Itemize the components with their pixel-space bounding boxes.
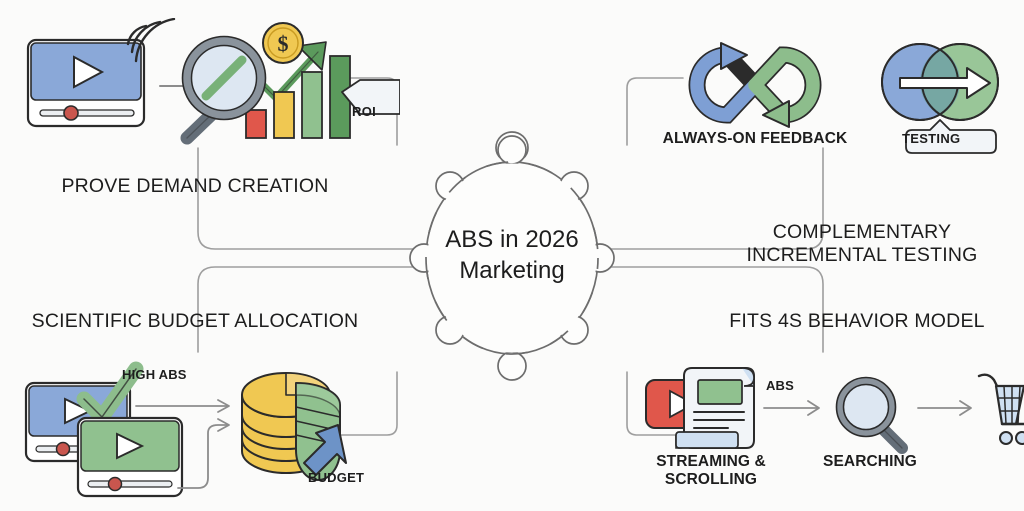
svg-text:$: $ bbox=[278, 31, 289, 56]
cart-wheel-right bbox=[1016, 432, 1024, 444]
video-player-icon bbox=[28, 40, 144, 126]
label-prove-demand-creation: PROVE DEMAND CREATION bbox=[0, 175, 390, 198]
infographic-canvas: ABS in 2026 Marketing bbox=[0, 0, 1024, 511]
pie-cylinder-chart-icon bbox=[242, 373, 346, 480]
label-always-on-feedback: ALWAYS-ON FEEDBACK bbox=[640, 130, 870, 148]
label-complementary-line: COMPLEMENTARY INCREMENTAL TESTING bbox=[700, 221, 1024, 267]
hub-lobe-s bbox=[498, 352, 526, 380]
video-scroll-icon bbox=[646, 368, 754, 448]
label-streaming-scrolling: STREAMING & SCROLLING bbox=[636, 453, 786, 490]
bar-2 bbox=[274, 92, 294, 138]
abs-arrow-icon bbox=[764, 401, 819, 415]
bar-3 bbox=[302, 72, 322, 138]
bottom-right-graphic bbox=[640, 358, 1024, 468]
label-searching: SEARCHING bbox=[805, 453, 935, 471]
hub-title-line2: Marketing bbox=[392, 255, 632, 286]
roi-tag-label: ROI bbox=[352, 104, 376, 119]
label-fits-4s-behavior-model: FITS 4S BEHAVIOR MODEL bbox=[690, 310, 1024, 333]
label-abs-arrow: ABS bbox=[750, 378, 810, 393]
dollar-coin-icon: $ bbox=[263, 23, 303, 63]
arrow-right-icon bbox=[918, 401, 971, 415]
progress-dot-icon bbox=[64, 106, 78, 120]
infinity-loop-icon bbox=[665, 33, 845, 133]
top-left-graphic: $ bbox=[20, 18, 400, 148]
hub-title-line1: ABS in 2026 bbox=[392, 224, 632, 255]
shopping-cart-icon bbox=[979, 375, 1024, 444]
bar-1 bbox=[246, 110, 266, 138]
label-complementary-incremental-testing: COMPLEMENTARY INCREMENTAL TESTING bbox=[700, 175, 1024, 313]
magnifier-icon bbox=[837, 378, 903, 449]
hub-title: ABS in 2026 Marketing bbox=[392, 224, 632, 286]
video-player-green-icon bbox=[78, 418, 182, 496]
hub-lobe-n bbox=[498, 136, 526, 164]
cart-wheel-left bbox=[1000, 432, 1012, 444]
label-scientific-budget-allocation: SCIENTIFIC BUDGET ALLOCATION bbox=[0, 310, 390, 333]
label-high-abs: HIGH ABS bbox=[122, 367, 222, 382]
testing-tag-label: TESTING bbox=[902, 131, 960, 146]
label-budget: BUDGET bbox=[308, 470, 398, 485]
